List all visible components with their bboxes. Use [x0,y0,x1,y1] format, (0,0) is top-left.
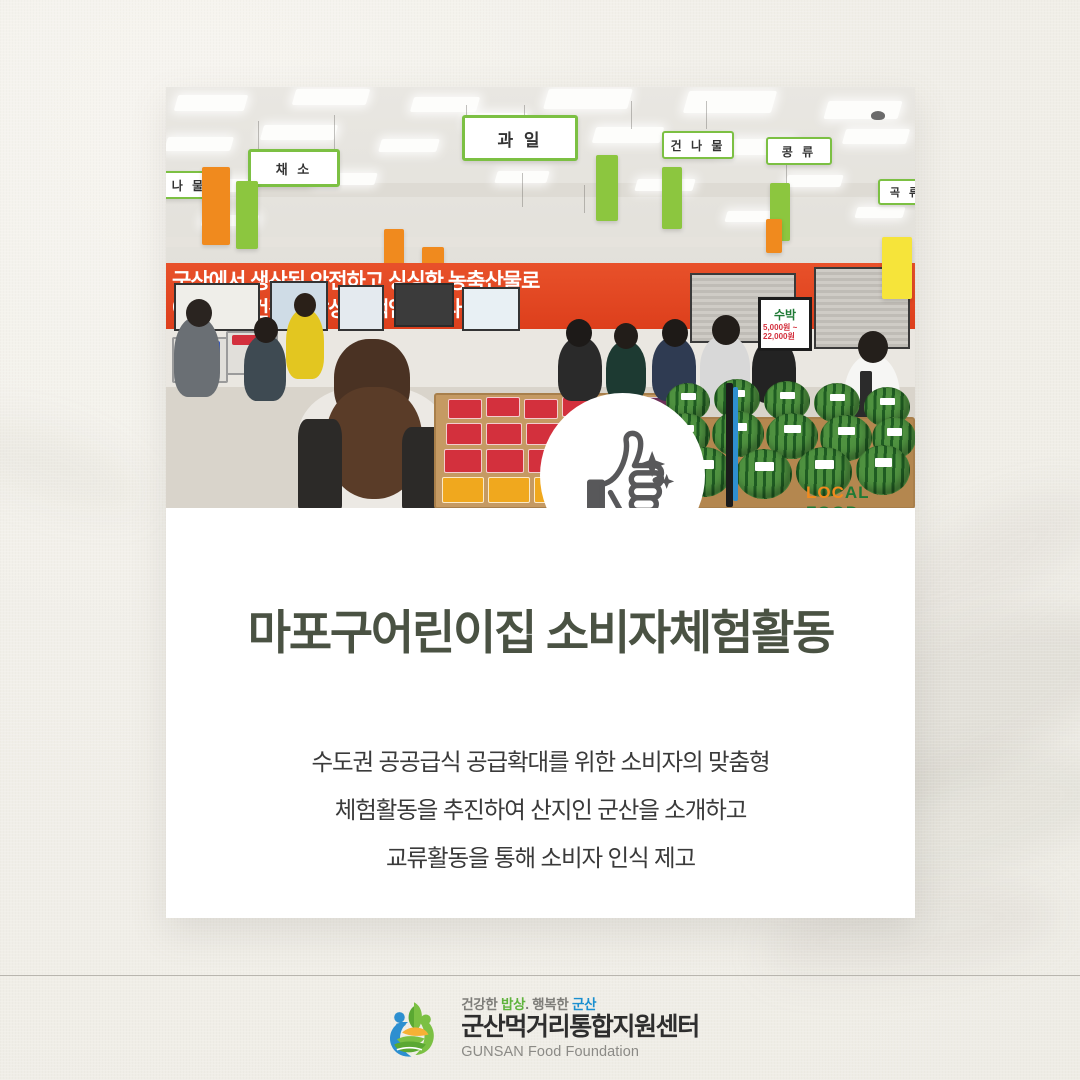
description-block: 수도권 공공급식 공급확대를 위한 소비자의 맞춤형 체험활동을 추진하여 산지… [311,738,769,882]
sign-wire [522,173,523,207]
section-sign-bean: 콩 류 [766,137,832,165]
berry-pack [524,399,558,419]
footer-logo-text: 건강한 밥상. 행복한 군산 군산먹거리통합지원센터 GUNSAN Food F… [461,993,699,1060]
section-sign-fruit: 과 일 [462,115,578,161]
shopper [286,309,324,379]
ceiling-light [683,91,777,113]
berry-pack [486,397,520,417]
description-line: 교류활동을 통해 소비자 인식 제고 [311,834,769,882]
berry-pack [486,449,524,473]
section-sign-vegetable: 채 소 [248,149,340,187]
crate-brand-label: LOCAL FOOD [806,483,915,508]
shopper-head [254,317,278,343]
description-line: 체험활동을 추진하여 산지인 군산을 소개하고 [311,786,769,834]
section-sign-grain: 곡 류 [878,179,915,205]
ceiling-light [592,127,665,143]
tagline-highlight-bapsang: 밥상 [501,997,525,1012]
wall-poster-yellow [882,237,912,299]
crate-brand-prefix: LOC [806,483,845,502]
hanging-banner-green [236,181,258,249]
shopper [174,317,220,397]
footer-org-subtitle: GUNSAN Food Foundation [461,1044,699,1060]
footer-org-name: 군산먹거리통합지원센터 [461,1014,699,1041]
staff-head [858,331,888,363]
section-sign-label: 과 일 [497,126,542,151]
ceiling-light [543,89,633,109]
hanging-banner-orange [202,167,230,245]
thumbs-up-sparkle-icon [571,424,675,509]
ceiling-light [842,129,910,144]
ceiling-light [823,101,902,119]
shopper-head [186,299,212,327]
display-pole [726,383,733,507]
card-text-area: 마포구어린이집 소비자체험활동 수도권 공공급식 공급확대를 위한 소비자의 맞… [166,508,915,918]
berry-pack [486,423,522,445]
ceiling-light [410,97,480,112]
security-camera [871,111,885,120]
display-cooler [462,287,520,331]
fruit-pack-yellow [488,477,530,503]
sign-wire [706,101,707,129]
tagline-part-1: 건강한 [461,997,501,1012]
photo-ceiling-beam [166,237,915,247]
shopper-head [614,323,638,349]
content-card: 채 소 과 일 나 물 건 나 물 콩 류 곡 류 [166,87,915,918]
tagline-highlight-gunsan: 군산 [572,997,596,1012]
hanging-banner-green [662,167,682,229]
sign-wire [631,101,632,129]
watermelon [736,449,792,499]
shopper [244,335,286,401]
ceiling-light [784,175,843,187]
footer: 건강한 밥상. 행복한 군산 군산먹거리통합지원센터 GUNSAN Food F… [0,976,1080,1080]
display-cooler [394,283,454,327]
ceiling-light [166,137,234,151]
section-sign-label: 건 나 물 [671,137,726,154]
shopper [606,341,646,401]
wall-poster-orange [766,219,782,253]
watermelon-sign-title: 수박 [774,306,796,323]
shopper-head [662,319,688,347]
gunsan-food-foundation-logo-icon [381,993,447,1059]
section-sign-dried: 건 나 물 [662,131,734,159]
tagline-part-2: . 행복한 [525,997,572,1012]
description-line: 수도권 공공급식 공급확대를 위한 소비자의 맞춤형 [311,738,769,786]
shopper-head [294,293,316,317]
display-cooler [338,285,384,331]
ceiling-light [260,125,338,140]
page-title: 마포구어린이집 소비자체험활동 [248,594,833,663]
hanging-banner-green [596,155,618,221]
fruit-pack-yellow [442,477,484,503]
shopper-head [712,315,740,345]
ceiling-light [378,139,440,152]
ceiling-light [292,89,371,105]
footer-logo-lockup: 건강한 밥상. 행복한 군산 군산먹거리통합지원센터 GUNSAN Food F… [381,993,699,1060]
berry-pack [444,449,482,473]
watermelon-price-sign: 수박 5,000원 ~ 22,000원 [758,297,812,351]
berry-pack [446,423,482,445]
section-sign-label: 콩 류 [782,143,816,160]
shopper-head [566,319,592,347]
berry-pack [448,399,482,419]
section-sign-label: 채 소 [276,159,313,178]
display-ribbon [733,387,738,501]
section-sign-label: 곡 류 [890,184,915,200]
header-photo: 채 소 과 일 나 물 건 나 물 콩 류 곡 류 [166,87,915,508]
watermelon-sign-price: 5,000원 ~ 22,000원 [763,324,807,342]
ceiling-light [174,95,249,111]
ceiling-light [854,207,905,218]
sign-wire [584,185,585,213]
footer-tagline: 건강한 밥상. 행복한 군산 [461,993,699,1013]
foreground-shopper-arm [298,419,342,508]
